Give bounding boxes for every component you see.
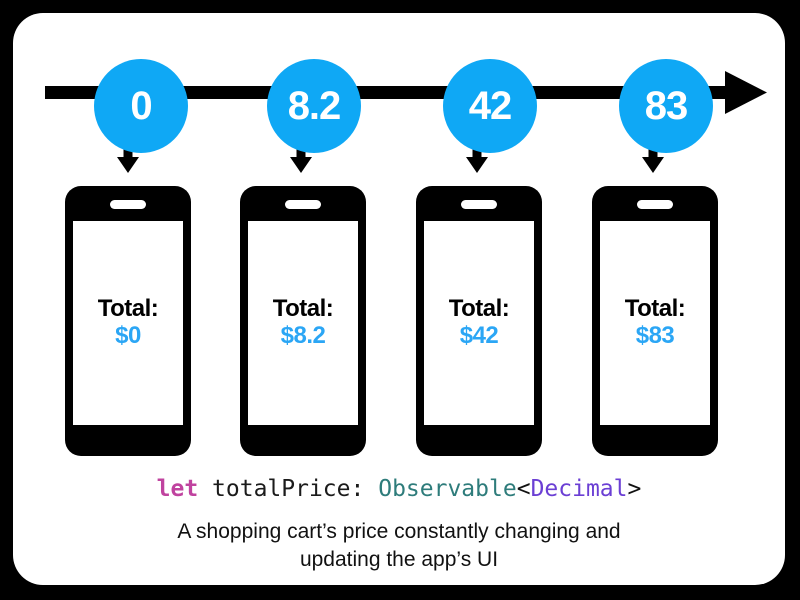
- code-keyword-let: let: [157, 476, 199, 502]
- total-label: Total:: [625, 296, 686, 322]
- code-space-2: [364, 476, 378, 502]
- total-value: $0: [115, 322, 141, 350]
- total-label: Total:: [449, 296, 510, 322]
- code-generic-decimal: Decimal: [531, 476, 628, 502]
- caption-line-2: updating the app’s UI: [73, 546, 725, 574]
- phone-screen: Total: $8.2: [248, 221, 358, 425]
- phone-speaker-icon: [285, 200, 321, 209]
- timeline-node-0[interactable]: 0: [94, 59, 188, 153]
- timeline-node-3[interactable]: 83: [619, 59, 713, 153]
- code-type-observable: Observable: [378, 476, 516, 502]
- timeline-node-label: 83: [645, 86, 688, 126]
- total-value: $42: [460, 322, 499, 350]
- phone-speaker-icon: [461, 200, 497, 209]
- total-value: $8.2: [281, 322, 326, 350]
- code-space-1: [198, 476, 212, 502]
- timeline-node-label: 0: [130, 86, 151, 126]
- screenshot-root: 0 8.2 42 83 Total: $0 Total: $8.2: [0, 0, 800, 600]
- phone-speaker-icon: [637, 200, 673, 209]
- timeline-node-1[interactable]: 8.2: [267, 59, 361, 153]
- phone-mockup-2: Total: $42: [416, 186, 542, 456]
- total-label: Total:: [273, 296, 334, 322]
- caption-line-1: A shopping cart’s price constantly chang…: [73, 518, 725, 546]
- phone-mockup-1: Total: $8.2: [240, 186, 366, 456]
- timeline-node-label: 42: [469, 86, 512, 126]
- phone-mockup-3: Total: $83: [592, 186, 718, 456]
- timeline-arrowhead-icon: [725, 71, 767, 114]
- code-declaration: let totalPrice: Observable<Decimal>: [13, 476, 785, 502]
- total-value: $83: [636, 322, 675, 350]
- code-angle-open: <: [517, 476, 531, 502]
- phone-screen: Total: $42: [424, 221, 534, 425]
- code-angle-close: >: [628, 476, 642, 502]
- phone-speaker-icon: [110, 200, 146, 209]
- diagram-card: 0 8.2 42 83 Total: $0 Total: $8.2: [13, 13, 785, 585]
- caption-text: A shopping cart’s price constantly chang…: [73, 518, 725, 573]
- phone-mockup-0: Total: $0: [65, 186, 191, 456]
- code-identifier: totalPrice:: [212, 476, 364, 502]
- total-label: Total:: [98, 296, 159, 322]
- timeline-node-label: 8.2: [288, 86, 341, 126]
- phone-screen: Total: $83: [600, 221, 710, 425]
- phone-screen: Total: $0: [73, 221, 183, 425]
- timeline-node-2[interactable]: 42: [443, 59, 537, 153]
